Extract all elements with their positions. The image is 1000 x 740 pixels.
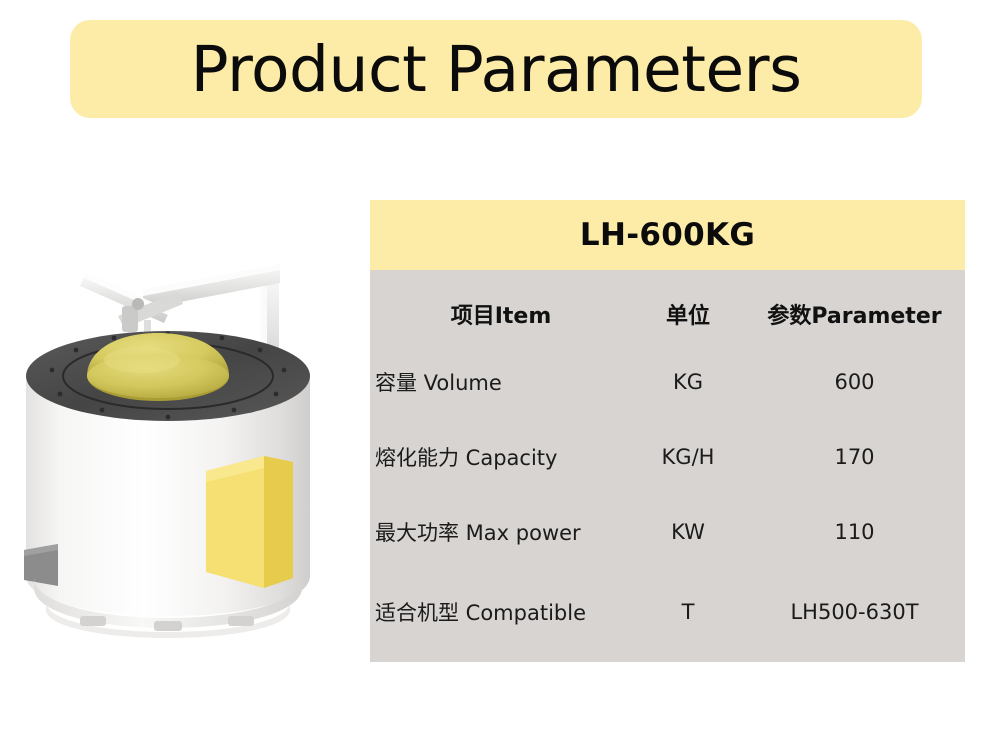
table-column-headers: 项目Item 单位 参数Parameter [370,288,965,340]
table-row: 适合机型 Compatible T LH500-630T [370,574,965,649]
row-item-label: 最大功率 Max power [370,517,632,547]
furnace-side-panel [24,544,58,586]
row-item-label: 容量 Volume [370,367,632,397]
row-parameter-value: 110 [744,520,965,544]
row-item-label: 适合机型 Compatible [370,597,632,627]
product-image [18,228,348,648]
page-title: Product Parameters [191,38,802,101]
row-parameter-value: 600 [744,370,965,394]
row-parameter-value: 170 [744,445,965,469]
product-parameters-table: LH-600KG 项目Item 单位 参数Parameter 容量 Volume… [370,200,965,662]
row-unit-value: KG/H [632,445,744,469]
melting-furnace-illustration [18,228,348,648]
table-row: 最大功率 Max power KW 110 [370,494,965,569]
furnace-control-box [206,456,293,588]
column-header-item: 项目Item [370,298,632,330]
column-header-parameter: 参数Parameter [744,298,965,330]
row-item-label: 熔化能力 Capacity [370,442,632,472]
model-name: LH-600KG [580,217,755,253]
row-unit-value: KG [632,370,744,394]
row-parameter-value: LH500-630T [744,600,965,624]
column-header-unit: 单位 [632,298,744,330]
row-unit-value: T [632,600,744,624]
table-row: 容量 Volume KG 600 [370,344,965,419]
table-row: 熔化能力 Capacity KG/H 170 [370,419,965,494]
table-model-header: LH-600KG [370,200,965,270]
page-title-banner: Product Parameters [70,20,922,118]
furnace-lever [80,273,183,332]
row-unit-value: KW [632,520,744,544]
